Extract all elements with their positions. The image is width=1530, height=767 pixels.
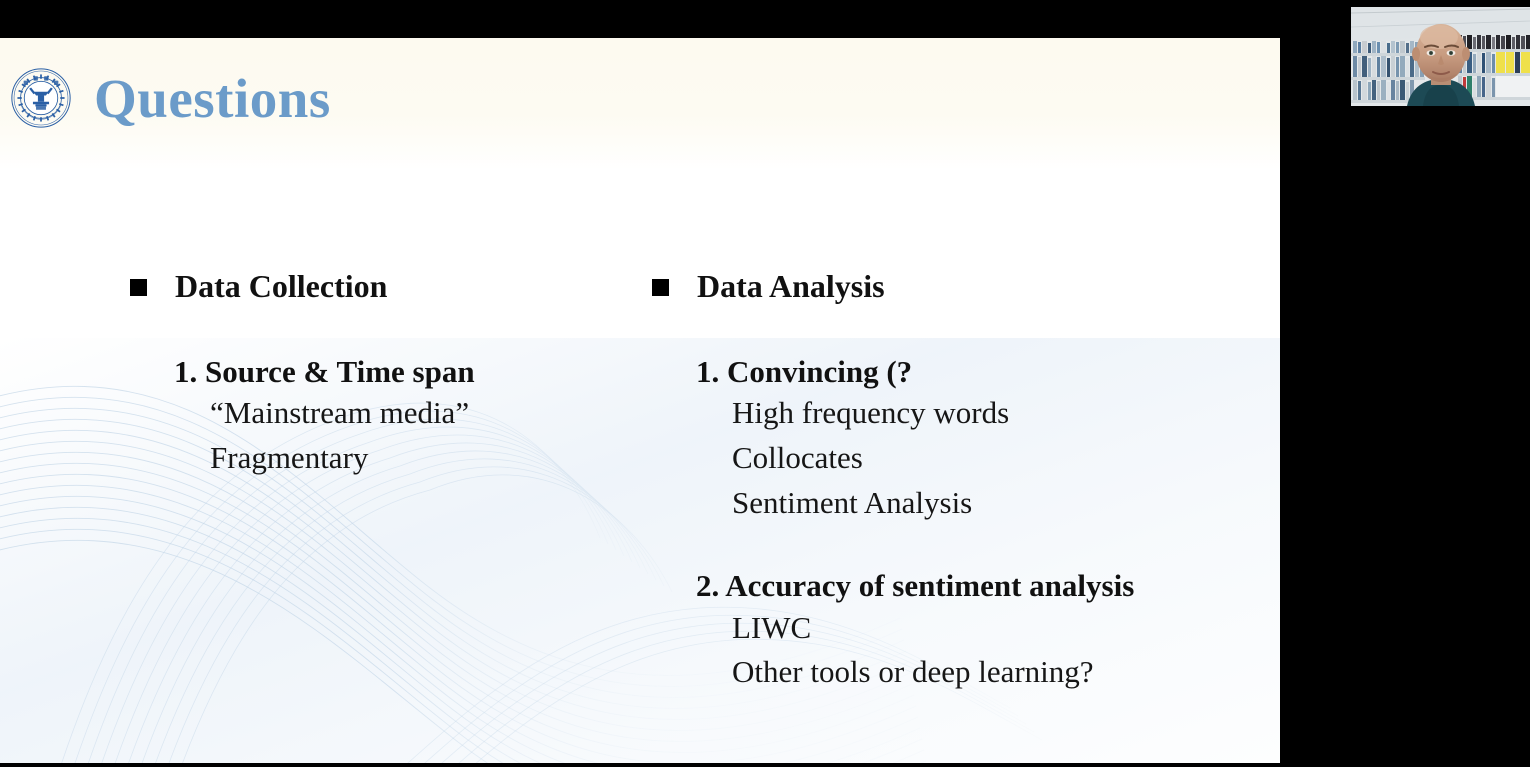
column-data-analysis: Data Analysis 1. Convincing (? High freq…: [652, 268, 1272, 695]
column-data-collection: Data Collection 1. Source & Time span “M…: [130, 268, 650, 481]
item-subline: “Mainstream media”: [210, 391, 650, 436]
item-subline: Fragmentary: [210, 436, 650, 481]
slide-content: Data Collection 1. Source & Time span “M…: [0, 38, 1280, 763]
square-bullet-icon: [130, 279, 147, 296]
list-item: 1. Convincing (? High frequency words Co…: [652, 353, 1272, 525]
presentation-slide: Questions Data Collection 1. Source & Ti…: [0, 38, 1280, 763]
list-item: 1. Source & Time span “Mainstream media”…: [130, 353, 650, 481]
item-subline: Collocates: [732, 436, 1272, 481]
item-subline: High frequency words: [732, 391, 1272, 436]
column-heading-label: Data Collection: [175, 268, 387, 305]
square-bullet-icon: [652, 279, 669, 296]
column-heading-label: Data Analysis: [697, 268, 885, 305]
meeting-stage: Questions Data Collection 1. Source & Ti…: [0, 0, 1530, 767]
participant-video-tile[interactable]: [1351, 7, 1530, 106]
item-title: 1. Convincing (?: [696, 353, 1272, 391]
column-heading: Data Collection: [130, 268, 650, 305]
item-subline: Sentiment Analysis: [732, 481, 1272, 526]
item-subline: Other tools or deep learning?: [732, 650, 1272, 695]
item-title: 1. Source & Time span: [174, 353, 650, 391]
item-subline: LIWC: [732, 606, 1272, 651]
column-heading: Data Analysis: [652, 268, 1272, 305]
presenter-webcam-image: [1351, 7, 1530, 106]
list-item: 2. Accuracy of sentiment analysis LIWC O…: [652, 567, 1272, 695]
item-title: 2. Accuracy of sentiment analysis: [696, 567, 1272, 605]
